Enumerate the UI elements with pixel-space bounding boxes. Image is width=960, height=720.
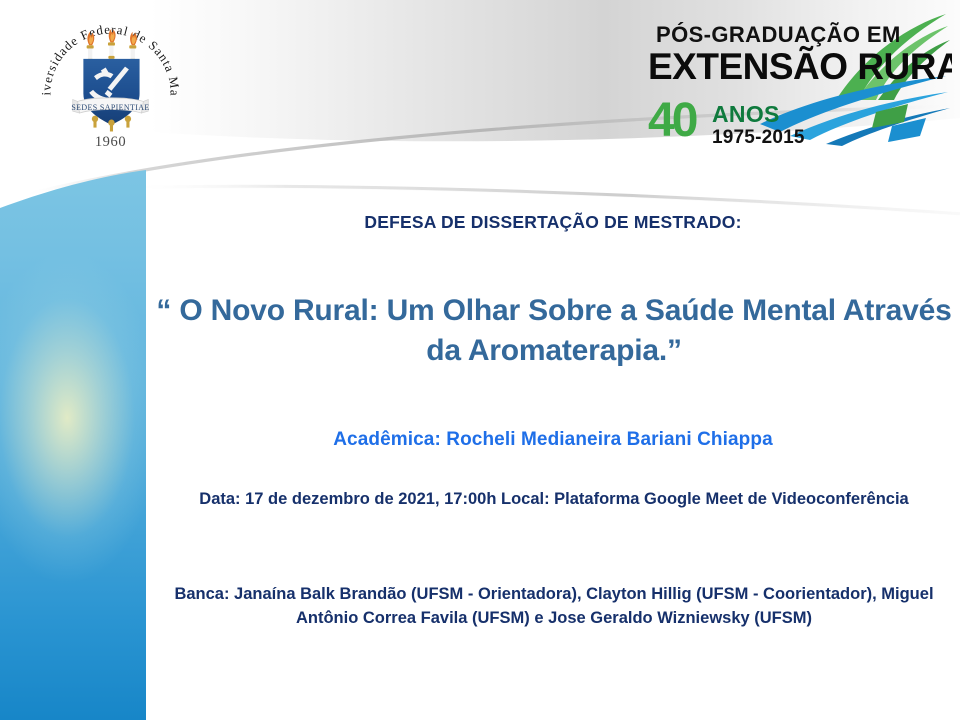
academic-label: Acadêmica:	[333, 429, 441, 450]
logo-anniversary-number: 40	[648, 94, 697, 147]
committee-line: Banca: Janaína Balk Brandão (UFSM - Orie…	[154, 582, 954, 631]
kicker-heading: DEFESA DE DISSERTAÇÃO DE MESTRADO:	[146, 212, 960, 233]
logo-anniversary-years: 1975-2015	[712, 127, 805, 148]
academic-name: Rocheli Medianeira Bariani Chiappa	[446, 429, 772, 450]
logo-anniversary-word: ANOS	[712, 101, 780, 127]
left-blue-panel	[0, 150, 146, 720]
left-blue-panel-gradient	[0, 150, 146, 720]
pos-graduacao-extensao-rural-logo: PÓS-GRADUAÇÃO EM EXTENSÃO RURAL 40 ANOS …	[640, 4, 952, 152]
date-location-line: Data: 17 de dezembro de 2021, 17:00h Loc…	[174, 488, 934, 512]
logo-line2-text: EXTENSÃO RURAL	[648, 45, 952, 87]
presentation-slide: Universidade Federal de Santa Maria	[0, 0, 960, 720]
logo-line1-text: PÓS-GRADUAÇÃO EM	[656, 22, 901, 47]
academic-line: Acadêmica: Rocheli Medianeira Bariani Ch…	[146, 429, 960, 451]
svg-text:SEDES SAPIENTIAE: SEDES SAPIENTIAE	[71, 103, 149, 112]
ufsm-crest-icon: Universidade Federal de Santa Maria	[33, 10, 188, 158]
svg-text:1960: 1960	[95, 134, 126, 150]
slide-content: DEFESA DE DISSERTAÇÃO DE MESTRADO: “ O N…	[146, 196, 960, 720]
page-title: “ O Novo Rural: Um Olhar Sobre a Saúde M…	[156, 291, 952, 371]
